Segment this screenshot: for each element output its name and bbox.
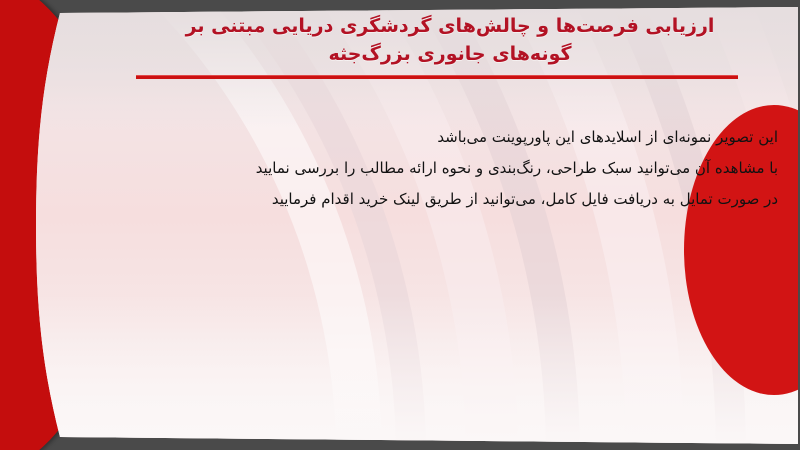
slide-body-line-3: در صورت تمایل به دریافت فایل کامل، می‌تو…	[130, 184, 778, 215]
slide-body-line-2: با مشاهده آن می‌توانید سبک طراحی، رنگ‌بن…	[130, 153, 778, 184]
title-underline-rule	[136, 75, 738, 79]
slide-canvas: ارزیابی فرصت‌ها و چالش‌های گردشگری دریای…	[0, 0, 800, 450]
slide-title-line-2: گونه‌های جانوری بزرگ‌جثه	[120, 40, 780, 68]
slide-body-line-1: این تصویر نمونه‌ای از اسلایدهای این پاور…	[130, 122, 778, 153]
slide-title: ارزیابی فرصت‌ها و چالش‌های گردشگری دریای…	[120, 12, 780, 68]
slide-body-text: این تصویر نمونه‌ای از اسلایدهای این پاور…	[130, 122, 778, 215]
slide-title-line-1: ارزیابی فرصت‌ها و چالش‌های گردشگری دریای…	[120, 12, 780, 40]
slide-content-panel	[36, 7, 798, 444]
